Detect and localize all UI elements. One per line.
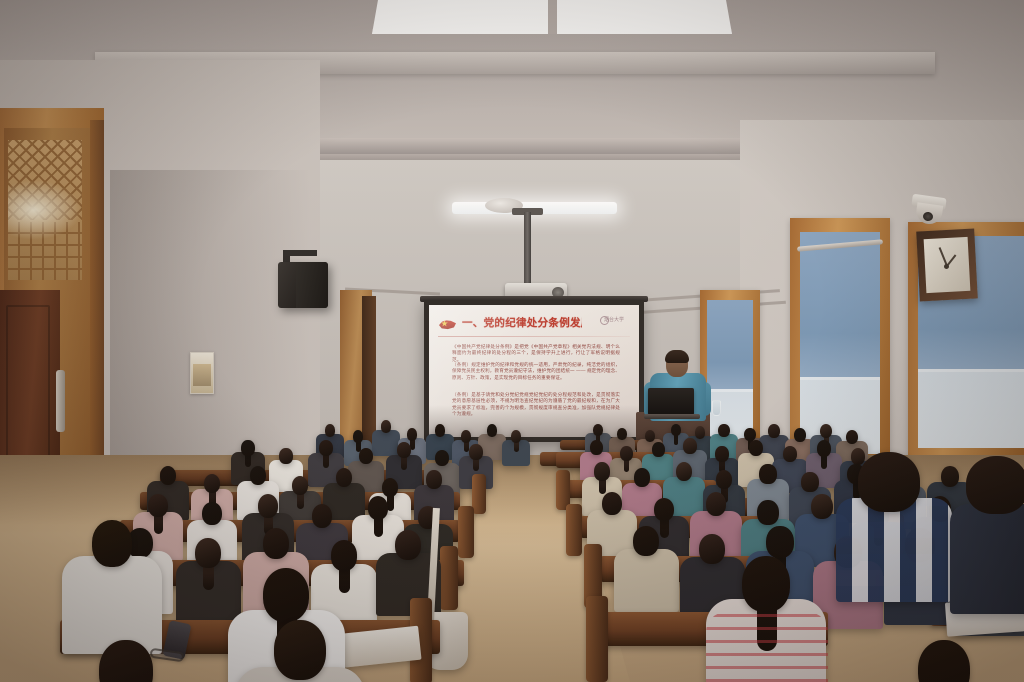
audience-head: [258, 494, 279, 518]
water-glass: [712, 400, 721, 416]
clock-center-pin: [944, 264, 949, 269]
audience-head: [368, 496, 389, 520]
bench-armrest: [472, 474, 486, 514]
audience-head: [407, 428, 418, 441]
striped-shirt-pattern: [706, 612, 828, 682]
audience-head: [768, 424, 780, 438]
audience-head: [312, 504, 333, 528]
audience-head: [511, 430, 522, 443]
audience-head: [593, 424, 603, 436]
audience-member: [372, 430, 399, 456]
audience-head: [757, 500, 778, 525]
audience-head: [461, 430, 472, 443]
audience-head: [817, 440, 832, 457]
audience-head: [671, 424, 681, 436]
bench-armrest: [440, 546, 458, 610]
audience-head: [263, 528, 290, 559]
wall-notice-content: [193, 364, 211, 386]
bench-armrest: [566, 504, 582, 556]
skylight-panel-left: [372, 0, 548, 34]
audience-head: [148, 494, 168, 517]
audience-head: [359, 448, 373, 464]
audience-head: [250, 466, 267, 485]
audience-head: [715, 446, 729, 462]
presenter-hair: [665, 350, 689, 363]
audience-head: [695, 426, 706, 439]
audience-head: [353, 430, 364, 443]
audience-head: [851, 448, 866, 465]
slide-title-underline: [438, 336, 630, 337]
bench-armrest: [586, 596, 608, 682]
slide-title: 一、党的纪律处分条例发展历程: [462, 316, 582, 331]
audience-head: [620, 446, 633, 461]
bench-armrest: [458, 506, 474, 558]
slide-paragraph: （条例）规定维护党的纪律和党规的统一适用，严肃党的纪录，纯洁党的组织，保障党员民…: [452, 362, 620, 381]
audience-head: [706, 492, 727, 516]
window-roller-blind[interactable]: [800, 232, 880, 380]
laptop-base: [644, 414, 700, 419]
university-logo-text: 烟台大学: [596, 316, 632, 332]
audience-head: [794, 428, 806, 442]
audience-head: [652, 442, 665, 457]
audience-head: [590, 440, 603, 455]
audience-member-checkered-shirt: [836, 498, 952, 602]
audience-head: [634, 468, 650, 487]
audience-head: [617, 428, 627, 440]
audience-head: [749, 440, 763, 456]
audience-head: [92, 520, 132, 567]
audience-head: [783, 446, 797, 462]
audience-head: [645, 430, 655, 442]
audience-head: [699, 534, 725, 564]
audience-head: [676, 462, 693, 481]
audience-head: [654, 498, 674, 521]
transom-backlight-glow: [8, 180, 82, 240]
audience-member-navy-right: [950, 504, 1024, 614]
audience-head: [336, 468, 353, 487]
audience-head: [325, 424, 336, 437]
audience-head: [292, 476, 309, 495]
audience-head: [742, 556, 790, 612]
audience-head: [160, 466, 177, 485]
audience-head: [382, 478, 399, 497]
audience-head: [801, 472, 818, 492]
audience-member-left-white: [62, 556, 163, 654]
audience-head: [718, 424, 729, 437]
audience-head: [204, 474, 221, 493]
audience-head: [716, 470, 733, 489]
audience-head: [966, 456, 1024, 514]
audience-head: [274, 620, 326, 680]
projector-mount-pole: [524, 212, 531, 284]
lecture-hall-photo: 一、党的纪律处分条例发展历程 烟台大学 《中国共产党纪律处分条例》是把党《中国共…: [0, 0, 1024, 682]
audience-head: [435, 450, 449, 466]
audience-head: [766, 526, 793, 558]
audience-head: [858, 452, 920, 512]
audience-member: [614, 549, 679, 612]
audience-head: [759, 464, 776, 484]
laptop: [648, 388, 694, 415]
audience-head: [683, 438, 697, 454]
slide-paragraph: 《中国共产党纪律处分条例》是把党《中国共产党章程》相关党内法规、明个么释面约为最…: [452, 344, 620, 363]
audience-head: [435, 424, 446, 437]
audience-head: [469, 444, 483, 460]
skylight-panel-right: [556, 0, 732, 34]
audience-head: [426, 470, 442, 489]
audience-head: [263, 568, 310, 622]
audience-head: [381, 420, 392, 433]
audience-head: [331, 540, 358, 571]
audience-head: [594, 462, 610, 481]
door-handle-icon[interactable]: [56, 370, 65, 432]
audience-head: [811, 494, 833, 519]
slide-paragraph: （条例）是基于请党和处分党纪党规党纪党纪的处分程规范和处改，是贯彻落实党的意愿基…: [452, 392, 620, 418]
audience-head: [941, 466, 959, 487]
audience-head: [397, 442, 411, 458]
audience-head: [195, 538, 221, 568]
audience-head: [241, 440, 255, 456]
audience-head: [279, 448, 293, 464]
wall-speaker-grille-icon: [296, 262, 328, 308]
audience-head: [202, 502, 222, 525]
audience-head: [395, 530, 421, 560]
audience-head: [602, 492, 622, 515]
skylight-divider: [548, 0, 557, 34]
window-roller-blind[interactable]: [707, 300, 753, 392]
audience-head: [319, 440, 333, 456]
audience-head: [633, 526, 659, 556]
audience-head: [487, 424, 498, 437]
